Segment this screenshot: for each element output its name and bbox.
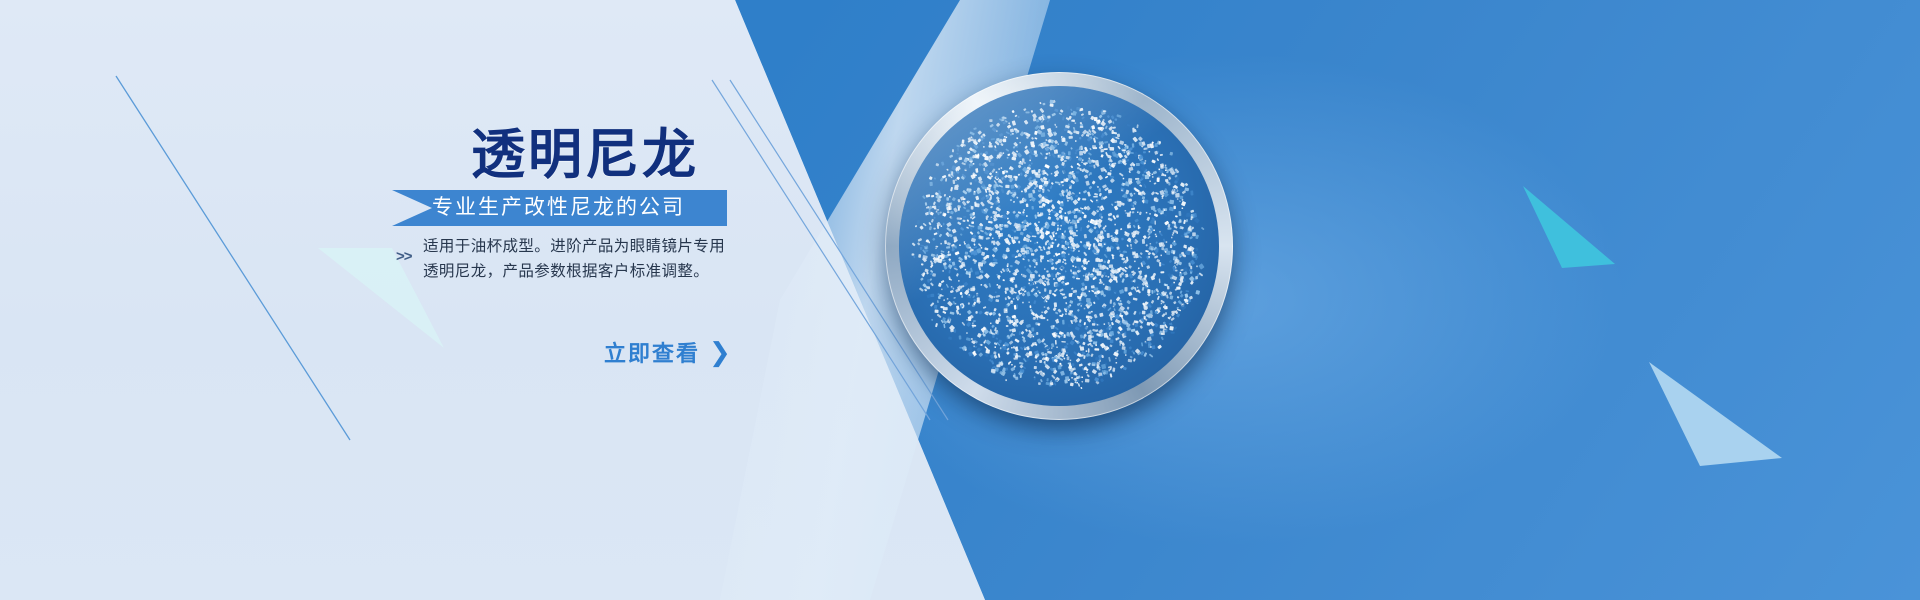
chevron-double-right-icon: >> bbox=[396, 248, 412, 265]
dish-interior bbox=[899, 86, 1219, 406]
hairline-left bbox=[116, 76, 350, 440]
nylon-pellets bbox=[899, 86, 1219, 406]
chevron-right-icon: ❯ bbox=[709, 339, 733, 365]
view-now-label: 立即查看 bbox=[604, 336, 700, 368]
promo-banner: 透明尼龙 专业生产改性尼龙的公司 >> 适用于油杯成型。进阶产品为眼睛镜片专用 … bbox=[0, 0, 1920, 600]
view-now-button[interactable]: 立即查看 ❯ bbox=[604, 336, 733, 368]
description-line-1: 适用于油杯成型。进阶产品为眼睛镜片专用 bbox=[423, 234, 753, 259]
description-line-2: 透明尼龙，产品参数根据客户标准调整。 bbox=[423, 259, 753, 284]
petri-dish-image bbox=[885, 72, 1233, 420]
subtitle-text: 专业生产改性尼龙的公司 bbox=[432, 190, 685, 226]
description-text: 适用于油杯成型。进阶产品为眼睛镜片专用 透明尼龙，产品参数根据客户标准调整。 bbox=[423, 234, 753, 284]
page-title: 透明尼龙 bbox=[471, 128, 699, 182]
